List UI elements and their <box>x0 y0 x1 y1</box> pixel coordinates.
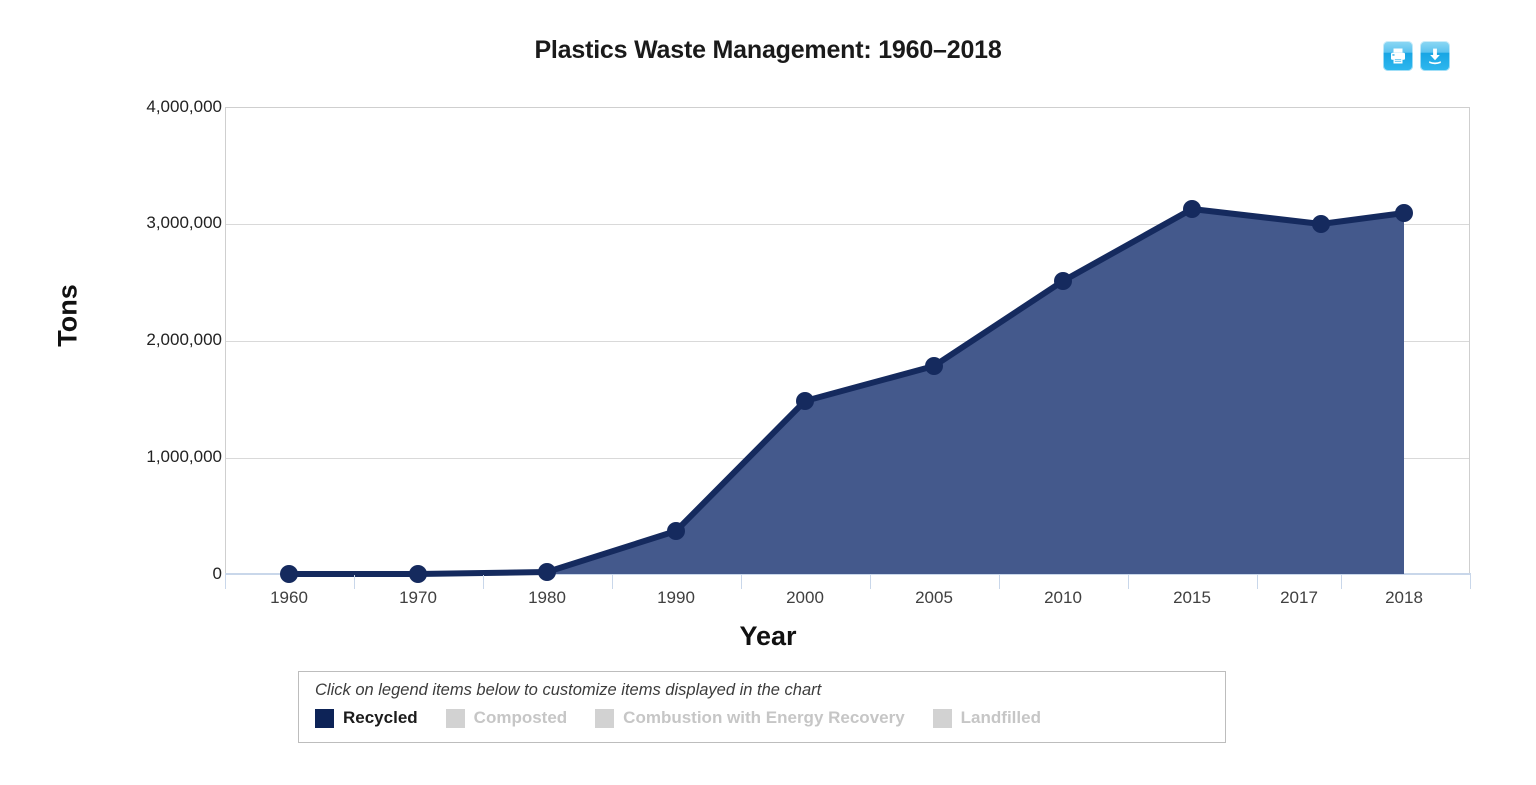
legend-item-label: Landfilled <box>961 708 1041 728</box>
chart-toolbar <box>1383 41 1450 71</box>
legend-item-recycled[interactable]: Recycled <box>315 708 418 728</box>
x-tick-label-1970: 1970 <box>348 588 488 608</box>
x-tick-label-1980: 1980 <box>477 588 617 608</box>
legend-swatch-icon <box>315 709 334 728</box>
chart-widget: Plastics Waste Management: 1960–2018 Ton… <box>0 0 1536 785</box>
x-tick-label-1960: 1960 <box>219 588 359 608</box>
legend-swatch-icon <box>595 709 614 728</box>
data-point-2010[interactable] <box>1054 272 1072 290</box>
data-point-1990[interactable] <box>667 522 685 540</box>
legend-item-label: Combustion with Energy Recovery <box>623 708 905 728</box>
download-icon[interactable] <box>1420 41 1450 71</box>
y-tick-label-2: 2,000,000 <box>42 330 222 350</box>
x-tick-mark <box>1128 575 1129 589</box>
legend-item-composted[interactable]: Composted <box>446 708 568 728</box>
data-point-2000[interactable] <box>796 392 814 410</box>
legend-item-landfilled[interactable]: Landfilled <box>933 708 1041 728</box>
data-point-2017[interactable] <box>1312 215 1330 233</box>
x-tick-mark <box>999 575 1000 589</box>
x-tick-label-2010: 2010 <box>993 588 1133 608</box>
legend-item-label: Recycled <box>343 708 418 728</box>
x-tick-mark <box>1257 575 1258 589</box>
data-point-2018[interactable] <box>1395 204 1413 222</box>
x-tick-mark <box>354 575 355 589</box>
legend-hint: Click on legend items below to customize… <box>315 681 821 700</box>
y-tick-label-4: 4,000,000 <box>42 97 222 117</box>
x-tick-mark <box>870 575 871 589</box>
data-point-2015[interactable] <box>1183 200 1201 218</box>
y-axis-title: Tons <box>53 236 84 396</box>
x-tick-label-1990: 1990 <box>606 588 746 608</box>
legend-item-combustion-with-energy-recovery[interactable]: Combustion with Energy Recovery <box>595 708 905 728</box>
x-tick-mark <box>483 575 484 589</box>
y-tick-label-3: 3,000,000 <box>42 213 222 233</box>
x-tick-mark <box>225 575 226 589</box>
y-tick-label-0: 0 <box>42 564 222 584</box>
x-tick-label-2018: 2018 <box>1334 588 1474 608</box>
x-tick-label-2000: 2000 <box>735 588 875 608</box>
data-point-1970[interactable] <box>409 565 427 583</box>
x-tick-mark <box>612 575 613 589</box>
legend-swatch-icon <box>446 709 465 728</box>
x-axis-title: Year <box>0 621 1536 652</box>
data-point-1960[interactable] <box>280 565 298 583</box>
print-icon[interactable] <box>1383 41 1413 71</box>
y-tick-label-1: 1,000,000 <box>42 447 222 467</box>
series-recycled <box>225 107 1471 577</box>
data-point-1980[interactable] <box>538 563 556 581</box>
data-point-2005[interactable] <box>925 357 943 375</box>
legend-swatch-icon <box>933 709 952 728</box>
legend-item-label: Composted <box>474 708 568 728</box>
chart-legend: Click on legend items below to customize… <box>298 671 1226 743</box>
x-tick-mark <box>1470 575 1471 589</box>
x-tick-label-2005: 2005 <box>864 588 1004 608</box>
chart-title: Plastics Waste Management: 1960–2018 <box>0 36 1536 65</box>
legend-items: Recycled Composted Combustion with Energ… <box>315 708 1069 728</box>
x-tick-mark <box>1341 575 1342 589</box>
x-tick-mark <box>741 575 742 589</box>
